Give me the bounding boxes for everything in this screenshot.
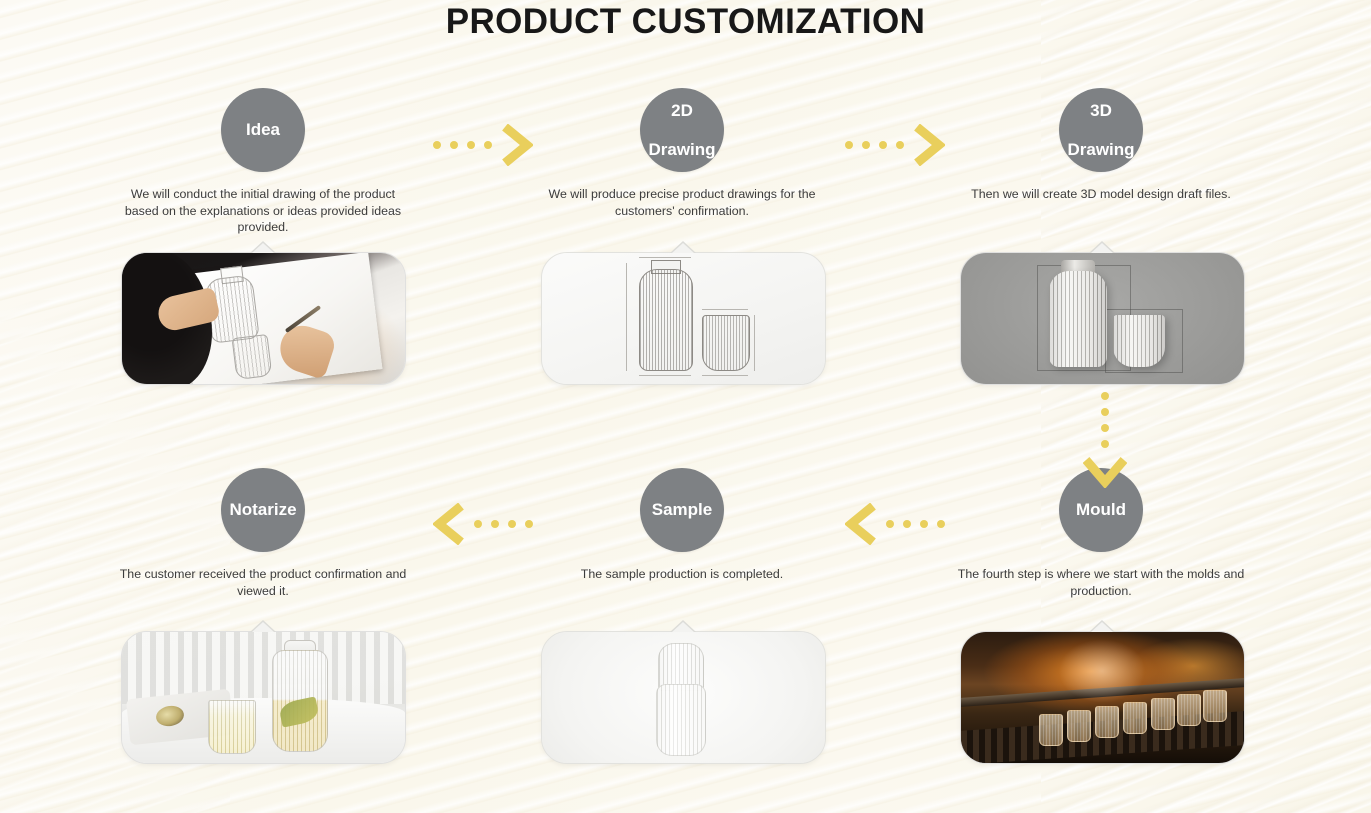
image-idea[interactable] [121, 252, 406, 385]
connector-arrow-idea-to-2d [433, 124, 533, 166]
step-image-card-idea [121, 252, 404, 385]
arrow-dot [845, 141, 853, 149]
arrow-dot [886, 520, 894, 528]
arrow-dot [903, 520, 911, 528]
illustration-sample [542, 632, 825, 763]
connector-arrow-sample-to-notarize [433, 503, 533, 545]
chevron-left-icon [845, 503, 877, 545]
glass-jar-shape [1177, 694, 1201, 726]
connector-arrow-3d-to-mould [1083, 392, 1127, 488]
arrow-dot [1101, 440, 1109, 448]
arrow-dot [484, 141, 492, 149]
image-sample[interactable] [541, 631, 826, 764]
drinking-cup-shape [208, 700, 256, 754]
step-badge-2d-drawing[interactable]: 2D Drawing [640, 88, 724, 172]
arrow-dot [491, 520, 499, 528]
chevron-right-icon [913, 124, 945, 166]
step-image-card-mould [960, 631, 1243, 764]
glass-jar-shape [1039, 714, 1063, 746]
card-notch-icon [670, 241, 696, 253]
dimension-line-top [639, 257, 691, 258]
arrow-dot [1101, 392, 1109, 400]
card-notch-icon [250, 620, 276, 632]
chevron-right-icon [501, 124, 533, 166]
image-notarize[interactable] [121, 631, 406, 764]
glass-jar-shape [1151, 698, 1175, 730]
image-3d-drawing[interactable] [960, 252, 1245, 385]
card-notch-icon [1089, 241, 1115, 253]
step-idea: Idea We will conduct the initial drawing… [113, 88, 413, 236]
arrow-dot [474, 520, 482, 528]
step-badge-idea[interactable]: Idea [221, 88, 305, 172]
step-description-notarize: The customer received the product confir… [113, 566, 413, 599]
page-title: PRODUCT CUSTOMIZATION [0, 2, 1371, 42]
dimension-line-cup-side [754, 315, 755, 371]
step-label-sample: Sample [650, 500, 714, 519]
dimension-line-vertical [626, 263, 627, 371]
card-notch-icon [1089, 620, 1115, 632]
card-notch-icon [670, 620, 696, 632]
illustration-mould [961, 632, 1244, 763]
connector-arrow-mould-to-sample [845, 503, 945, 545]
step-badge-sample[interactable]: Sample [640, 468, 724, 552]
arrow-dot [920, 520, 928, 528]
arrow-dot [1101, 408, 1109, 416]
arrow-dot [450, 141, 458, 149]
step-description-2d-drawing: We will produce precise product drawings… [532, 186, 832, 219]
image-mould[interactable] [960, 631, 1245, 764]
arrow-dot [1101, 424, 1109, 432]
dimension-line-cup-top [702, 309, 748, 310]
step-label-2d-line1: 2D [646, 101, 717, 120]
render-cup-shape [1113, 315, 1165, 367]
illustration-notarize [122, 632, 405, 763]
glass-jar-shape [1123, 702, 1147, 734]
illustration-2d-drawing [542, 253, 825, 384]
sample-carafe-shape [656, 684, 706, 756]
step-description-3d-drawing: Then we will create 3D model design draf… [951, 186, 1251, 203]
arrow-dot [937, 520, 945, 528]
card-notch-icon [250, 241, 276, 253]
sketch-cup-shape [232, 334, 273, 380]
step-label-3d-line2: Drawing [1065, 140, 1136, 159]
illustration-3d-drawing [961, 253, 1244, 384]
step-3d-drawing: 3D Drawing Then we will create 3D model … [951, 88, 1251, 203]
glass-jar-shape [1203, 690, 1227, 722]
step-description-sample: The sample production is completed. [532, 566, 832, 583]
connector-arrow-2d-to-3d [845, 124, 945, 166]
step-label-3d-line1: 3D [1065, 101, 1136, 120]
arrow-dot [896, 141, 904, 149]
arrow-dot [467, 141, 475, 149]
step-badge-3d-drawing[interactable]: 3D Drawing [1059, 88, 1143, 172]
step-2d-drawing: 2D Drawing We will produce precise produ… [532, 88, 832, 219]
step-label-notarize: Notarize [227, 500, 298, 519]
dimension-line-bottom [639, 375, 691, 376]
step-notarize: Notarize The customer received the produ… [113, 468, 413, 599]
steam-plume-shape [1057, 638, 1147, 704]
step-sample: Sample The sample production is complete… [532, 468, 832, 583]
arrow-dot [433, 141, 441, 149]
glass-jar-shape [1067, 710, 1091, 742]
step-image-card-3d-drawing [960, 252, 1243, 385]
step-image-card-notarize [121, 631, 404, 764]
step-description-mould: The fourth step is where we start with t… [951, 566, 1251, 599]
step-image-card-sample [541, 631, 824, 764]
drawing-bottle-shape [639, 269, 693, 371]
drawing-cup-shape [702, 315, 750, 371]
dimension-line-cup-bottom [702, 375, 748, 376]
image-2d-drawing[interactable] [541, 252, 826, 385]
curtain-background-shape [122, 632, 405, 704]
arrow-dot [879, 141, 887, 149]
step-description-idea: We will conduct the initial drawing of t… [113, 186, 413, 236]
render-bottle-shape [1049, 271, 1107, 367]
arrow-dot [525, 520, 533, 528]
step-label-idea: Idea [244, 120, 282, 139]
illustration-idea [122, 253, 405, 384]
chevron-left-icon [433, 503, 465, 545]
arrow-dot [862, 141, 870, 149]
step-badge-notarize[interactable]: Notarize [221, 468, 305, 552]
chevron-down-icon [1083, 456, 1127, 488]
arrow-dot [508, 520, 516, 528]
step-image-card-2d-drawing [541, 252, 824, 385]
step-label-mould: Mould [1074, 500, 1128, 519]
glass-jar-shape [1095, 706, 1119, 738]
step-label-2d-line2: Drawing [646, 140, 717, 159]
